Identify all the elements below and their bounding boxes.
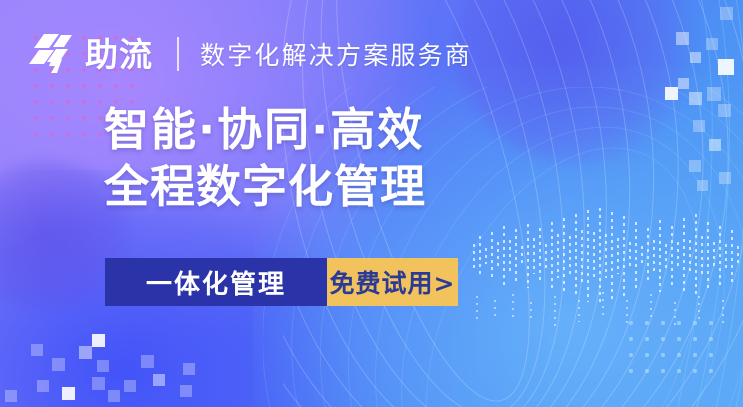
square-decoration <box>108 390 120 402</box>
square-decoration <box>709 139 721 151</box>
page-title: 智能·协同·高效 全程数字化管理 <box>104 101 426 215</box>
cta-group: 一体化管理 免费试用> <box>105 258 458 306</box>
square-decoration <box>689 160 701 172</box>
square-decoration <box>690 52 701 63</box>
integrated-management-button[interactable]: 一体化管理 <box>105 258 327 306</box>
square-decoration <box>718 59 734 75</box>
headline-line-2: 全程数字化管理 <box>104 158 426 215</box>
square-decoration <box>37 380 49 392</box>
square-decoration <box>718 104 731 117</box>
square-decoration <box>720 7 733 20</box>
square-decoration <box>676 32 689 45</box>
free-trial-button[interactable]: 免费试用> <box>327 258 458 306</box>
square-decoration <box>31 344 43 356</box>
square-decoration <box>665 87 678 100</box>
promo-banner: 助流 数字化解决方案服务商 智能·协同·高效 全程数字化管理 一体化管理 免费试… <box>0 0 743 407</box>
square-decoration <box>5 390 17 402</box>
brand-name: 助流 <box>85 38 153 71</box>
square-decoration <box>707 87 721 101</box>
square-decoration <box>706 38 718 50</box>
square-decoration <box>92 334 105 347</box>
brand-tagline: 数字化解决方案服务商 <box>200 36 472 72</box>
square-decoration <box>693 120 705 132</box>
header-divider <box>177 37 179 71</box>
square-decoration <box>689 92 702 105</box>
square-decoration <box>52 358 65 371</box>
square-decoration <box>678 78 689 89</box>
square-decoration <box>153 374 165 386</box>
square-decoration <box>697 180 708 191</box>
audio-waveform-decoration <box>470 196 743 356</box>
headline-line-1: 智能·协同·高效 <box>104 101 426 158</box>
square-decoration <box>79 346 92 359</box>
square-decoration <box>62 387 75 400</box>
square-decoration <box>97 360 109 372</box>
square-decoration <box>92 377 105 390</box>
square-decoration <box>124 380 136 392</box>
square-decoration <box>141 355 154 368</box>
square-decoration <box>180 385 192 397</box>
square-decoration <box>719 172 731 184</box>
brand-header: 助流 数字化解决方案服务商 <box>28 31 472 77</box>
lightning-slash-logo-icon <box>28 32 76 76</box>
square-decoration <box>183 363 195 375</box>
